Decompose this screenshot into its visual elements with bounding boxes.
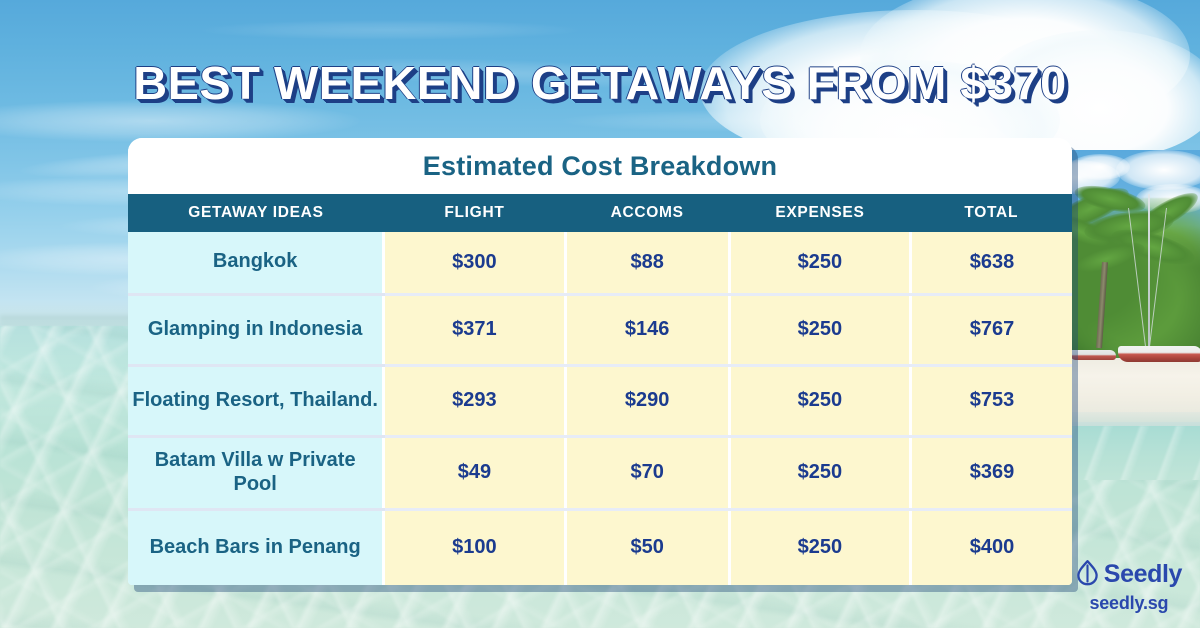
cell-getaway-name: Beach Bars in Penang	[128, 509, 384, 585]
cell-total-cost: $753	[911, 365, 1072, 436]
table-row: Glamping in Indonesia $371 $146 $250 $76…	[128, 294, 1072, 365]
table-row: Beach Bars in Penang $100 $50 $250 $400	[128, 509, 1072, 585]
cell-expenses-cost: $250	[729, 436, 910, 509]
cell-flight-cost: $300	[384, 232, 565, 294]
table-row: Batam Villa w Private Pool $49 $70 $250 …	[128, 436, 1072, 509]
cell-accoms-cost: $50	[565, 509, 729, 585]
seedly-wordmark: Seedly	[1104, 562, 1182, 587]
cell-total-cost: $638	[911, 232, 1072, 294]
column-header-accoms: ACCOMS	[565, 194, 729, 232]
column-header-flight: FLIGHT	[384, 194, 565, 232]
cell-accoms-cost: $290	[565, 365, 729, 436]
table-header-row: GETAWAY IDEAS FLIGHT ACCOMS EXPENSES TOT…	[128, 194, 1072, 232]
cell-total-cost: $400	[911, 509, 1072, 585]
seedly-logo-row: Seedly	[1076, 559, 1182, 590]
cell-expenses-cost: $250	[729, 294, 910, 365]
table-header: GETAWAY IDEAS FLIGHT ACCOMS EXPENSES TOT…	[128, 194, 1072, 232]
cell-total-cost: $767	[911, 294, 1072, 365]
cell-expenses-cost: $250	[729, 365, 910, 436]
cost-breakdown-table: GETAWAY IDEAS FLIGHT ACCOMS EXPENSES TOT…	[128, 194, 1072, 585]
cell-getaway-name: Glamping in Indonesia	[128, 294, 384, 365]
table-body: Bangkok $300 $88 $250 $638 Glamping in I…	[128, 232, 1072, 585]
card-heading: Estimated Cost Breakdown	[128, 138, 1072, 194]
column-header-total: TOTAL	[911, 194, 1072, 232]
cell-flight-cost: $371	[384, 294, 565, 365]
cell-flight-cost: $293	[384, 365, 565, 436]
cell-total-cost: $369	[911, 436, 1072, 509]
cell-expenses-cost: $250	[729, 509, 910, 585]
cost-breakdown-card: Estimated Cost Breakdown GETAWAY IDEAS F…	[128, 138, 1072, 585]
seedly-logo[interactable]: Seedly seedly.sg	[1076, 559, 1182, 612]
cell-accoms-cost: $88	[565, 232, 729, 294]
table-row: Floating Resort, Thailand. $293 $290 $25…	[128, 365, 1072, 436]
cell-getaway-name: Batam Villa w Private Pool	[128, 436, 384, 509]
seedly-droplet-icon	[1076, 559, 1099, 590]
catamaran-boat	[1070, 350, 1116, 360]
cell-getaway-name: Floating Resort, Thailand.	[128, 365, 384, 436]
cell-expenses-cost: $250	[729, 232, 910, 294]
column-header-getaway-ideas: GETAWAY IDEAS	[128, 194, 384, 232]
catamaran-boat	[1118, 346, 1200, 362]
cell-accoms-cost: $146	[565, 294, 729, 365]
column-header-expenses: EXPENSES	[729, 194, 910, 232]
cell-accoms-cost: $70	[565, 436, 729, 509]
island-cloud	[1070, 154, 1130, 180]
cell-flight-cost: $100	[384, 509, 565, 585]
table-row: Bangkok $300 $88 $250 $638	[128, 232, 1072, 294]
cell-flight-cost: $49	[384, 436, 565, 509]
boat-mast	[1148, 194, 1150, 352]
page-title: BEST WEEKEND GETAWAYS FROM $370	[0, 56, 1200, 110]
cell-getaway-name: Bangkok	[128, 232, 384, 294]
seedly-url: seedly.sg	[1076, 594, 1182, 612]
